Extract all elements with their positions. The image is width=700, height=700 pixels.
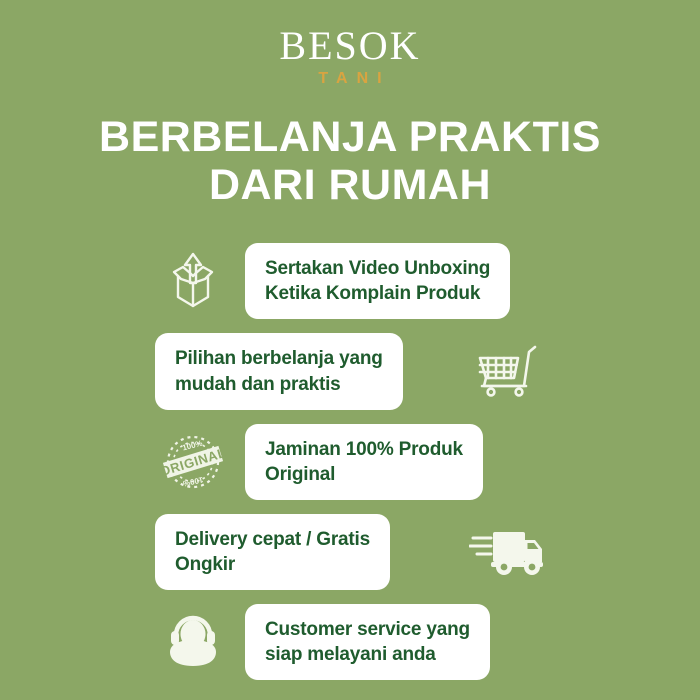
feature-row: Sertakan Video Unboxing Ketika Komplain … [155, 243, 545, 319]
brand-logo: BESOK TANI [279, 26, 420, 87]
feature-text-line-2: Ongkir [175, 552, 370, 577]
svg-text:100%: 100% [181, 438, 203, 452]
feature-pill: Sertakan Video Unboxing Ketika Komplain … [245, 243, 510, 319]
shopping-cart-icon [469, 336, 545, 408]
customer-service-headset-icon [155, 606, 231, 678]
brand-name: BESOK [279, 26, 420, 66]
feature-row: ORIGINAL 100% 100% Jaminan 100% Produk O… [155, 424, 545, 500]
promo-poster: BESOK TANI BERBELANJA PRAKTIS DARI RUMAH… [0, 0, 700, 700]
feature-text-line-1: Pilihan berbelanja yang [175, 346, 383, 371]
headline-line-1: BERBELANJA PRAKTIS [99, 113, 601, 161]
feature-text-line-1: Customer service yang [265, 617, 470, 642]
feature-list: Sertakan Video Unboxing Ketika Komplain … [155, 243, 545, 680]
feature-pill: Pilihan berbelanja yang mudah dan prakti… [155, 333, 403, 409]
page-title: BERBELANJA PRAKTIS DARI RUMAH [99, 113, 601, 209]
feature-text-line-1: Sertakan Video Unboxing [265, 256, 490, 281]
feature-text-line-1: Delivery cepat / Gratis [175, 527, 370, 552]
feature-text-line-1: Jaminan 100% Produk [265, 437, 463, 462]
feature-text-line-2: siap melayani anda [265, 642, 470, 667]
feature-pill: Jaminan 100% Produk Original [245, 424, 483, 500]
feature-pill: Delivery cepat / Gratis Ongkir [155, 514, 390, 590]
feature-text-line-2: Original [265, 462, 463, 487]
feature-pill: Customer service yang siap melayani anda [245, 604, 490, 680]
svg-text:100%: 100% [182, 475, 204, 488]
feature-row: Customer service yang siap melayani anda [155, 604, 545, 680]
feature-text-line-2: mudah dan praktis [175, 372, 383, 397]
headline-line-2: DARI RUMAH [99, 161, 601, 209]
delivery-truck-icon [469, 516, 545, 588]
feature-text-line-2: Ketika Komplain Produk [265, 281, 490, 306]
feature-row: Pilihan berbelanja yang mudah dan prakti… [155, 333, 545, 409]
feature-row: Delivery cepat / Gratis Ongkir [155, 514, 545, 590]
original-stamp-icon: ORIGINAL 100% 100% [155, 426, 231, 498]
brand-tagline: TANI [279, 71, 420, 87]
open-box-arrow-up-icon [155, 245, 231, 317]
